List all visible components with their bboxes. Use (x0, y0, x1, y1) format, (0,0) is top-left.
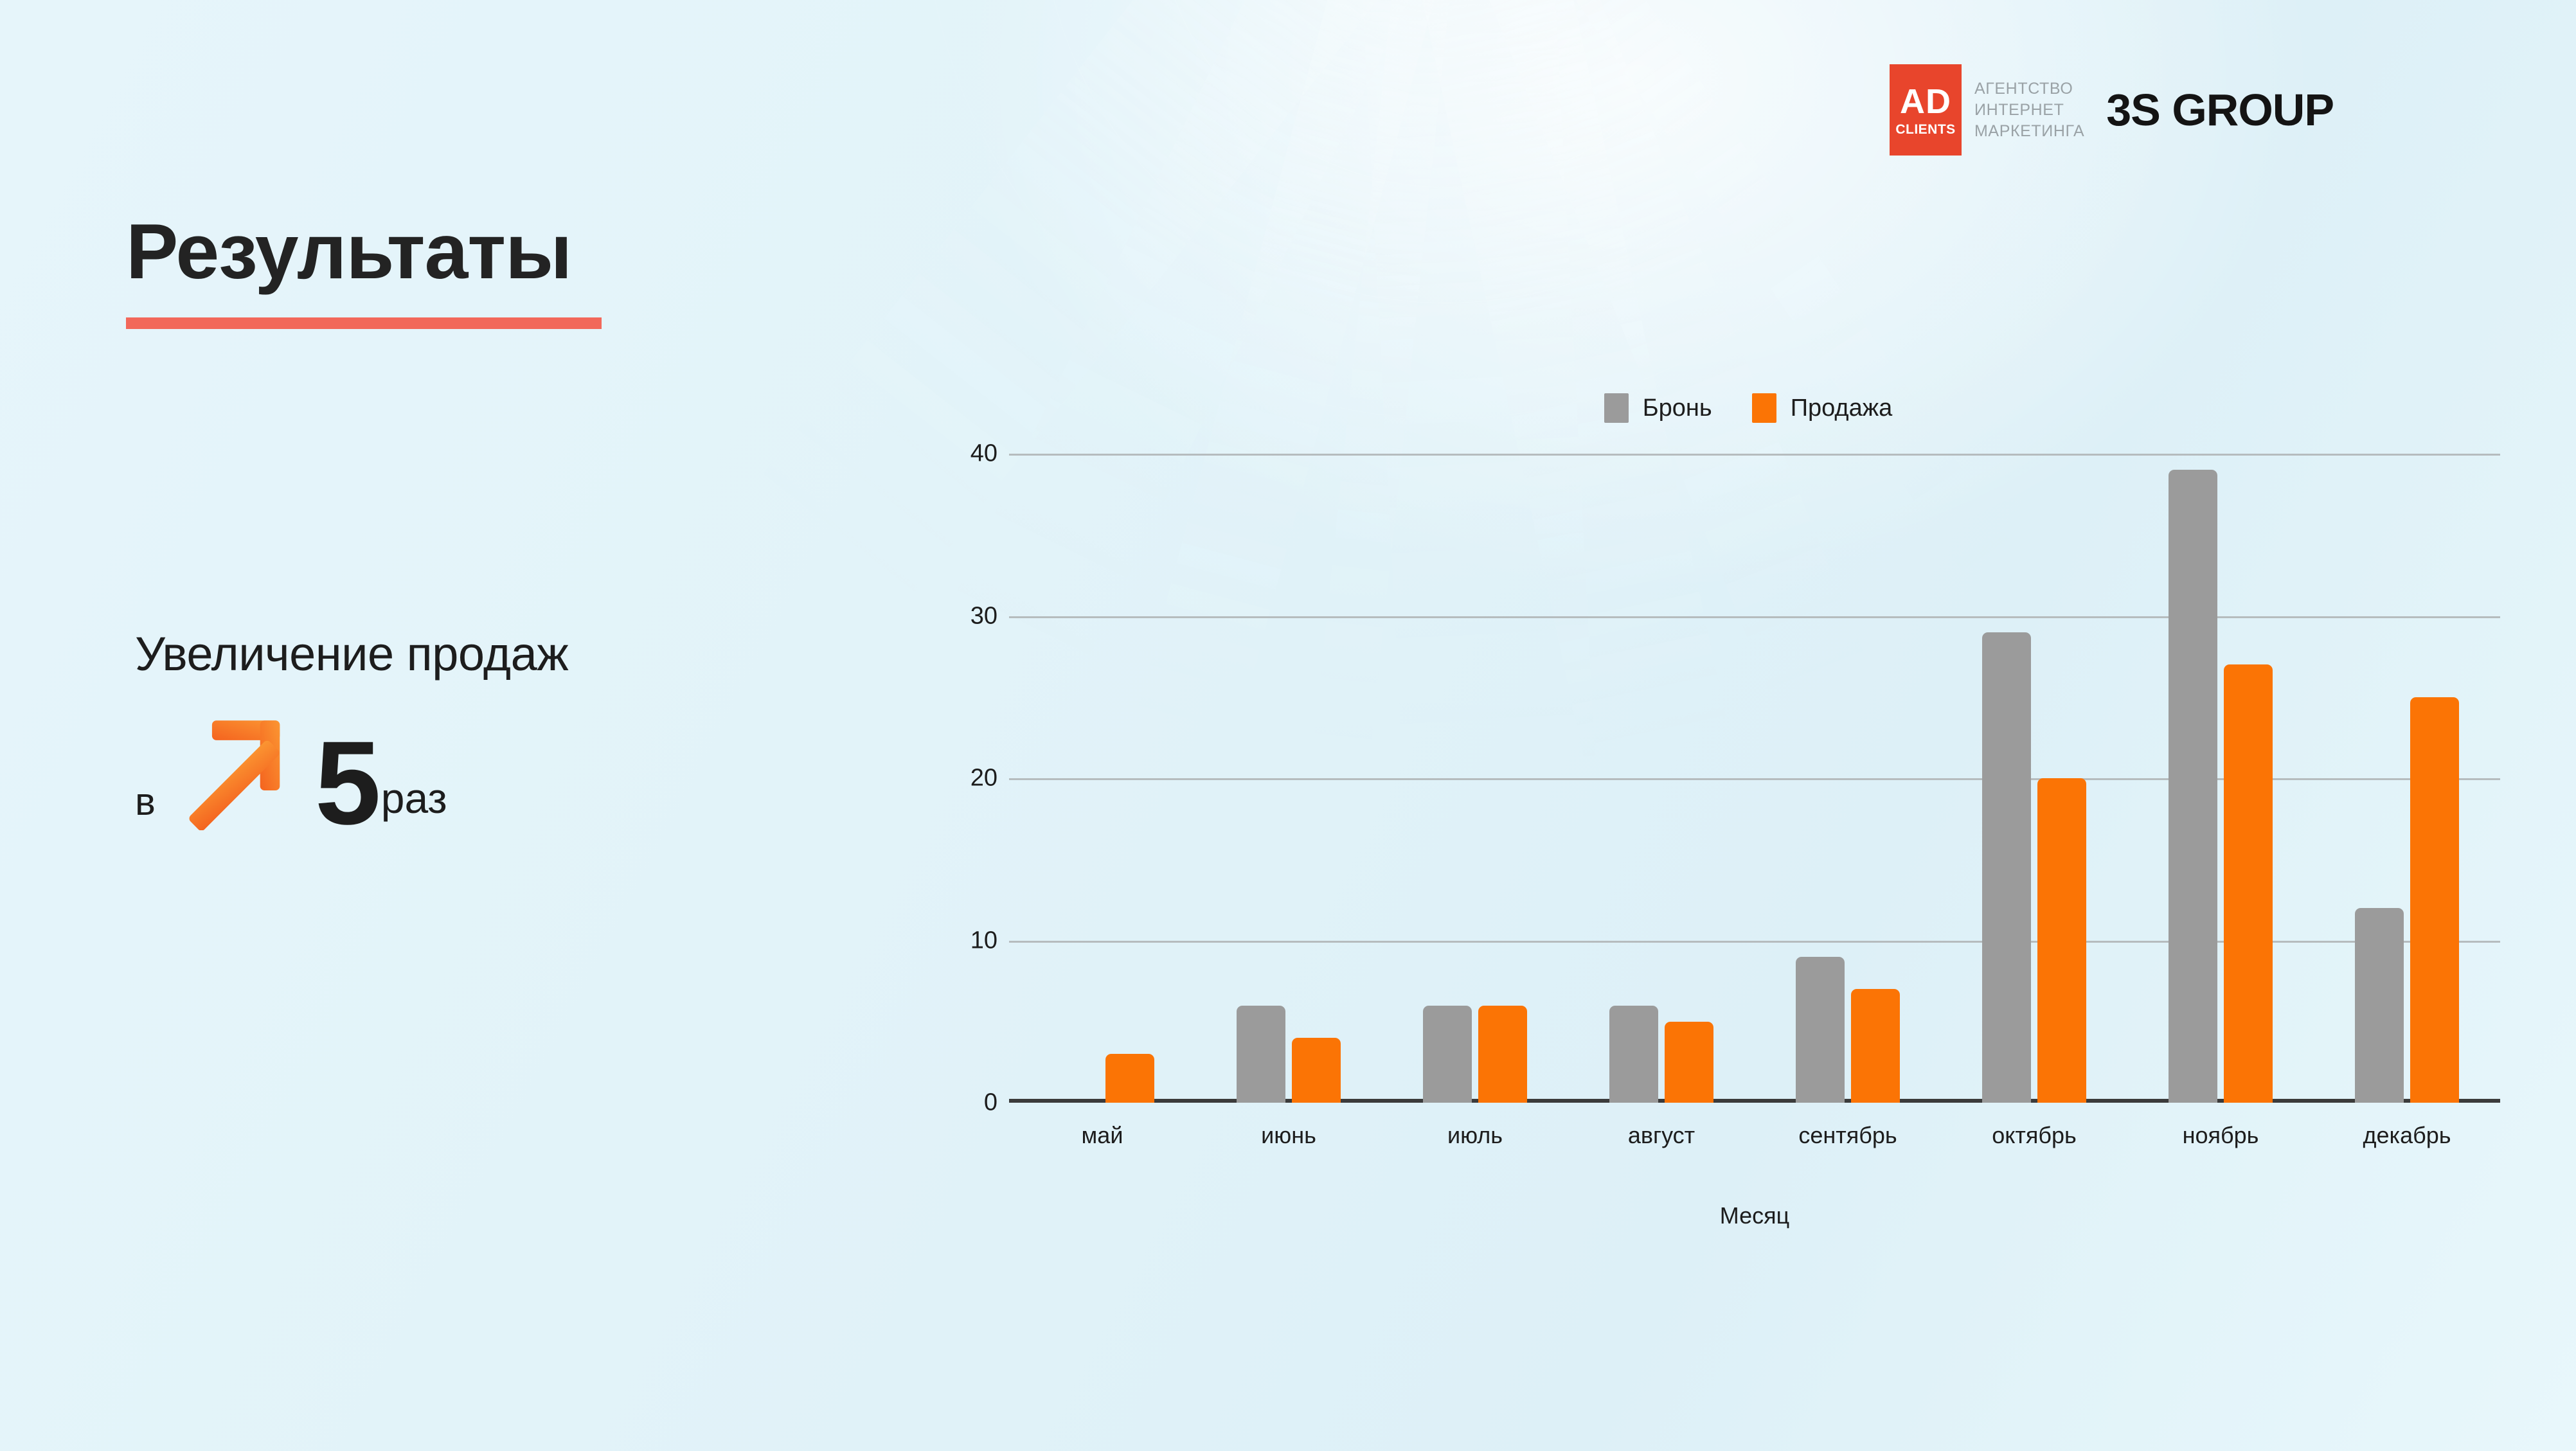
legend-item-0[interactable]: Бронь (1604, 393, 1712, 423)
bar-sale[interactable] (2224, 664, 2273, 1103)
bar-reservation[interactable] (1609, 1006, 1658, 1103)
adclients-mark-bottom: CLIENTS (1895, 123, 1955, 136)
logo-area: AD CLIENTS АГЕНТСТВО ИНТЕРНЕТ МАРКЕТИНГА… (1890, 64, 2334, 156)
x-axis-tick: октябрь (1941, 1122, 2127, 1149)
x-axis-title: Месяц (1009, 1202, 2500, 1229)
bar-group (2314, 454, 2500, 1103)
adclients-mark: AD CLIENTS (1890, 64, 1962, 156)
legend-item-1[interactable]: Продажа (1752, 393, 1893, 423)
x-axis-tick: май (1009, 1122, 1195, 1149)
x-axis-tick: июль (1382, 1122, 1568, 1149)
y-axis-tick: 30 (970, 602, 997, 630)
kpi-title: Увеличение продаж (135, 627, 842, 681)
bar-group (1568, 454, 1755, 1103)
kpi-unit: раз (381, 774, 447, 823)
x-axis-tick-labels: майиюньиюльавгустсентябрьоктябрьноябрьде… (1009, 1122, 2500, 1149)
adclients-tagline: АГЕНТСТВО ИНТЕРНЕТ МАРКЕТИНГА (1974, 78, 2084, 142)
page-title-block: Результаты (126, 212, 602, 329)
arrow-up-right-icon (183, 715, 292, 830)
bar-group (1195, 454, 1382, 1103)
legend-label: Бронь (1643, 395, 1712, 422)
title-underline (126, 317, 602, 329)
bar-sale[interactable] (2410, 697, 2459, 1103)
x-axis-tick: август (1568, 1122, 1755, 1149)
legend-swatch-icon (1752, 393, 1776, 423)
x-axis-tick: декабрь (2314, 1122, 2500, 1149)
adclients-tagline-line2: ИНТЕРНЕТ (1974, 100, 2084, 121)
bar-sale[interactable] (1105, 1054, 1154, 1103)
chart-legend: БроньПродажа (996, 386, 2500, 431)
bar-sale[interactable] (1292, 1038, 1341, 1103)
bar-group (1941, 454, 2127, 1103)
partner-wordmark: 3S GROUP (2106, 84, 2334, 136)
kpi-value: 5 (315, 735, 379, 833)
adclients-tagline-line1: АГЕНТСТВО (1974, 78, 2084, 100)
legend-swatch-icon (1604, 393, 1629, 423)
kpi-value-row: в 5 раз (135, 715, 842, 833)
bar-group (2127, 454, 2314, 1103)
bar-reservation[interactable] (1796, 957, 1845, 1103)
bar-chart: БроньПродажа 010203040 майиюньиюльавгуст… (913, 386, 2500, 1298)
chart-plot-area: 010203040 майиюньиюльавгустсентябрьоктяб… (913, 454, 2500, 1144)
y-axis-tick: 20 (970, 765, 997, 792)
page-title: Результаты (126, 212, 602, 290)
x-axis-tick: сентябрь (1755, 1122, 1941, 1149)
bar-sale[interactable] (2037, 778, 2086, 1103)
bar-reservation[interactable] (1423, 1006, 1472, 1103)
y-axis-tick: 0 (984, 1089, 997, 1117)
bar-group (1755, 454, 1941, 1103)
slide-background: AD CLIENTS АГЕНТСТВО ИНТЕРНЕТ МАРКЕТИНГА… (0, 0, 2576, 1451)
bar-sale[interactable] (1665, 1022, 1713, 1103)
bar-reservation[interactable] (1982, 632, 2031, 1103)
bar-reservation[interactable] (1237, 1006, 1285, 1103)
y-axis-tick: 40 (970, 440, 997, 468)
x-axis-tick: ноябрь (2127, 1122, 2314, 1149)
chart-bars (1009, 454, 2500, 1103)
y-axis-tick: 10 (970, 927, 997, 954)
adclients-mark-top: AD (1900, 84, 1951, 119)
bar-sale[interactable] (1478, 1006, 1527, 1103)
legend-label: Продажа (1791, 395, 1893, 422)
x-axis-tick: июнь (1195, 1122, 1382, 1149)
adclients-tagline-line3: МАРКЕТИНГА (1974, 121, 2084, 142)
bar-group (1382, 454, 1568, 1103)
y-axis-tick-labels: 010203040 (913, 454, 1009, 1103)
kpi-prefix: в (135, 779, 156, 824)
adclients-logo: AD CLIENTS АГЕНТСТВО ИНТЕРНЕТ МАРКЕТИНГА (1890, 64, 2084, 156)
bar-group (1009, 454, 1195, 1103)
bar-reservation[interactable] (2355, 908, 2404, 1103)
bar-reservation[interactable] (2169, 470, 2217, 1103)
bar-sale[interactable] (1851, 989, 1900, 1103)
kpi-block: Увеличение продаж в 5 раз (135, 627, 842, 833)
